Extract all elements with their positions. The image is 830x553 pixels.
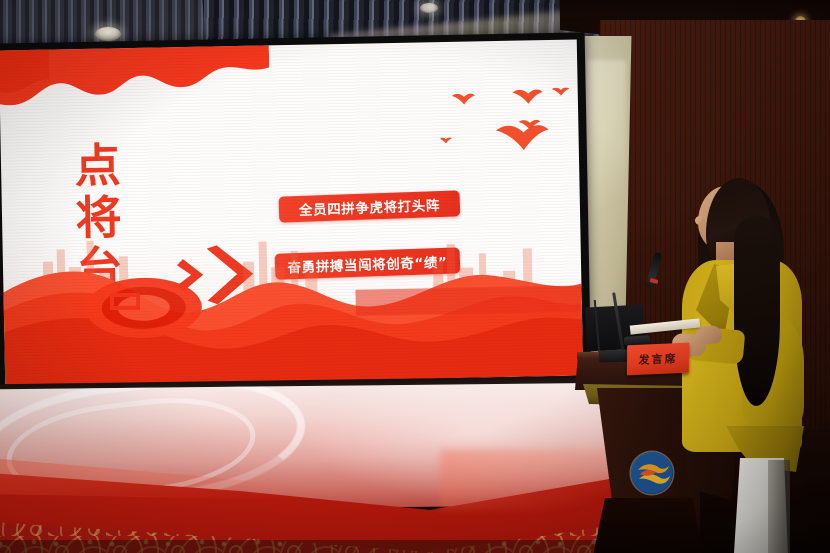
speaker-presenter xyxy=(676,176,816,553)
speaker-hand-right xyxy=(695,325,722,345)
flying-bird-icon xyxy=(452,94,475,105)
flying-bird-icon xyxy=(552,87,570,96)
flying-bird-icon xyxy=(440,137,452,143)
flying-bird-icon xyxy=(512,89,543,104)
podium-name-plate: 发言席 xyxy=(627,343,689,376)
wall-column-sheen xyxy=(586,60,626,270)
speaker-skirt-shadow xyxy=(768,460,790,553)
recessed-downlight-icon-secondary xyxy=(420,3,438,13)
speaker-hair-side xyxy=(734,216,780,406)
led-screen-frame: 点 将 台 全员四拼争虎将打头阵 奋勇拼搏当闯将创奇“绩” 多点发力做名将谋发展 xyxy=(0,32,591,393)
led-screen-display: 点 将 台 全员四拼争虎将打头阵 奋勇拼搏当闯将创奇“绩” 多点发力做名将谋发展 xyxy=(0,39,583,386)
conference-hall-scene: 点 将 台 全员四拼争虎将打头阵 奋勇拼搏当闯将创奇“绩” 多点发力做名将谋发展 xyxy=(0,0,830,553)
floor-shadow-strip xyxy=(0,540,620,553)
recessed-downlight-icon xyxy=(95,27,121,41)
blue-circle-wave-logo xyxy=(631,452,673,494)
title-char-1: 点 xyxy=(74,140,122,192)
red-wave-ribbon-graphic xyxy=(2,225,583,386)
red-cloud-decoration-icon xyxy=(0,39,271,149)
flying-birds-group xyxy=(440,87,584,170)
flag-marker-icon xyxy=(108,292,142,310)
flying-bird-icon xyxy=(496,125,549,151)
speaker-nose xyxy=(695,216,704,225)
